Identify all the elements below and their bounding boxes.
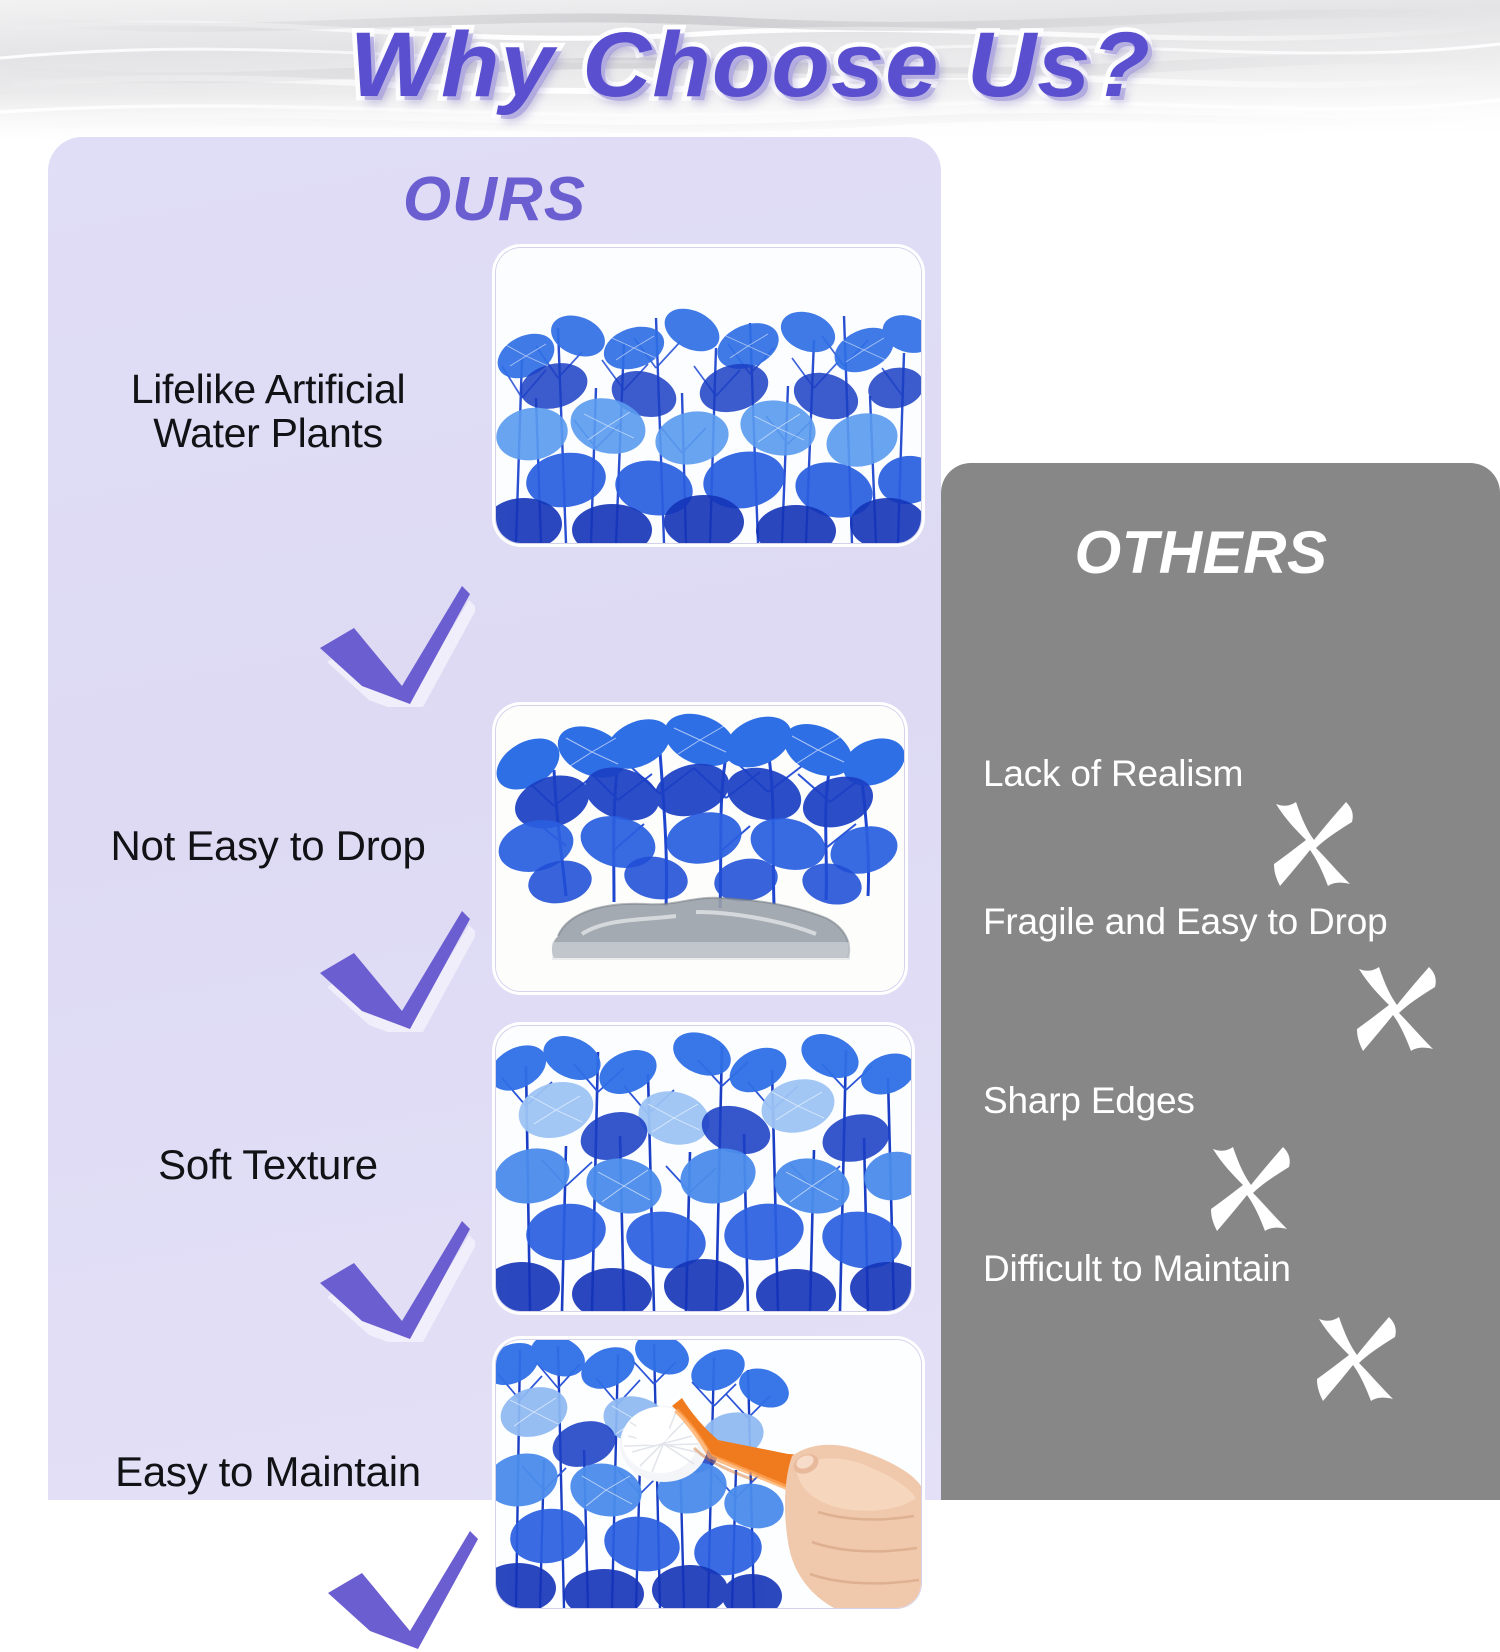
infographic-stage: Why Choose Us? OURS Lifelike Artificial …	[0, 0, 1500, 1500]
ours-item-3: Easy to Maintain	[48, 1187, 941, 1500]
others-item-label: Sharp Edges	[983, 1080, 1195, 1122]
ours-item-label: Easy to Maintain	[58, 1449, 478, 1494]
hand	[785, 1445, 921, 1608]
check-icon	[318, 1527, 483, 1652]
ours-item-label: Soft Texture	[58, 1142, 478, 1187]
brush-cleaning-plants-image	[496, 1340, 921, 1608]
ours-item-2: Soft Texture	[48, 877, 941, 1177]
others-item-0: Lack of Realism	[941, 693, 1500, 873]
ours-item-label-line2: Water Plants	[58, 411, 478, 455]
ours-item-0: Lifelike Artificial Water Plants	[48, 252, 941, 562]
ours-item-label: Lifelike Artificial Water Plants	[58, 367, 478, 456]
ours-item-label-line1: Lifelike Artificial	[58, 367, 478, 411]
ours-item-label: Not Easy to Drop	[58, 823, 478, 868]
ours-panel: OURS Lifelike Artificial Water Plants	[48, 137, 941, 1500]
others-item-label: Difficult to Maintain	[983, 1248, 1291, 1290]
x-icon	[1349, 963, 1441, 1055]
others-panel: OTHERS Lack of Realism Fragile and Easy …	[941, 463, 1500, 1500]
ours-item-photo	[495, 247, 922, 544]
x-icon	[1309, 1313, 1401, 1405]
aquarium-plants-image	[496, 248, 921, 543]
page-title: Why Choose Us?	[0, 8, 1500, 123]
ours-heading: OURS	[48, 164, 941, 235]
others-item-label: Lack of Realism	[983, 753, 1243, 795]
others-item-3: Difficult to Maintain	[941, 1223, 1500, 1403]
page-title-text: Why Choose Us?	[349, 13, 1150, 118]
others-heading: OTHERS	[941, 518, 1461, 587]
others-item-2: Sharp Edges	[941, 1053, 1500, 1223]
ours-item-1: Not Easy to Drop	[48, 567, 941, 867]
others-item-label: Fragile and Easy to Drop	[983, 901, 1387, 943]
ours-item-photo	[495, 1339, 922, 1609]
x-icon	[1203, 1143, 1295, 1235]
others-item-1: Fragile and Easy to Drop	[941, 873, 1500, 1053]
